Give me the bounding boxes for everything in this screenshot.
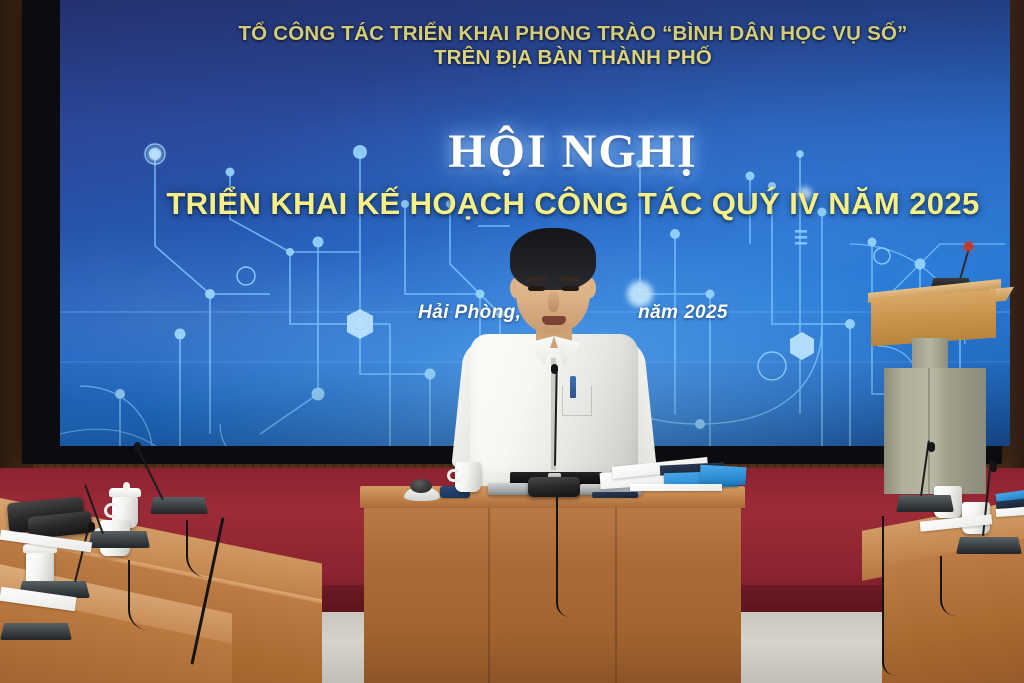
- conference-room-photo: TỔ CÔNG TÁC TRIỂN KHAI PHONG TRÀO “BÌNH …: [0, 0, 1024, 683]
- speaker-eye-right: [562, 286, 579, 291]
- left-microphone-2: [88, 530, 150, 548]
- slide-header-line-1: TỔ CÔNG TÁC TRIỂN KHAI PHONG TRÀO “BÌNH …: [98, 22, 1010, 46]
- teacup-handle: [104, 503, 116, 518]
- right-microphone-1-body: [896, 495, 954, 512]
- slide-header-line-2: TRÊN ĐỊA BÀN THÀNH PHỐ: [98, 46, 1010, 70]
- slide-main-title: HỘI NGHỊ: [98, 124, 1010, 179]
- left-microphone-1: [150, 496, 208, 514]
- desk-puck-icon: [410, 479, 432, 493]
- speaker-hair: [510, 228, 596, 290]
- left-cable-2: [128, 560, 148, 630]
- speaker-shirt-pocket: [562, 386, 592, 416]
- pen-icon: [570, 376, 576, 398]
- right-microphone-1-head: [928, 442, 935, 452]
- paper-sheet-3: [630, 484, 722, 491]
- remote-control: [592, 492, 638, 498]
- coffee-mug-center: [455, 462, 481, 492]
- slide-sub-title: TRIỂN KHAI KẾ HOẠCH CÔNG TÁC QUÝ IV NĂM …: [98, 186, 1010, 222]
- speaker-mouth: [542, 316, 566, 325]
- left-microphone-3-head: [88, 522, 95, 532]
- podium: [868, 286, 1003, 516]
- podium-base: [884, 368, 986, 494]
- speaker-eye-left: [528, 286, 545, 291]
- right-microphone-1: [896, 492, 954, 512]
- right-microphone-2: [956, 532, 1022, 554]
- left-microphone-4-body: [0, 623, 72, 640]
- center-desk: [360, 486, 745, 683]
- blue-folder-2: [700, 465, 747, 485]
- right-cable-2: [940, 556, 956, 616]
- left-microphone-1-body: [150, 497, 208, 514]
- right-cable-1: [882, 516, 896, 676]
- center-microphone-head: [551, 364, 558, 374]
- speaker-person: [452, 228, 652, 498]
- right-microphone-2-body: [956, 537, 1022, 554]
- podium-column: [912, 338, 948, 370]
- center-microphone: [528, 462, 580, 484]
- center-desk-seam-1: [488, 508, 490, 683]
- left-microphone-2-body: [88, 531, 150, 548]
- podium-microphone-icon: [964, 242, 973, 251]
- mug-handle: [447, 469, 459, 483]
- left-microphone-4: [0, 618, 72, 640]
- speaker-nose: [548, 292, 559, 312]
- right-microphone-2-head: [990, 462, 997, 472]
- teacup-knob: [123, 482, 130, 490]
- left-microphone-1-head: [134, 442, 141, 452]
- center-desk-seam-2: [615, 508, 617, 683]
- microphone-cable: [556, 497, 570, 617]
- center-desk-front: [364, 508, 741, 683]
- podium-base-seam: [928, 368, 930, 494]
